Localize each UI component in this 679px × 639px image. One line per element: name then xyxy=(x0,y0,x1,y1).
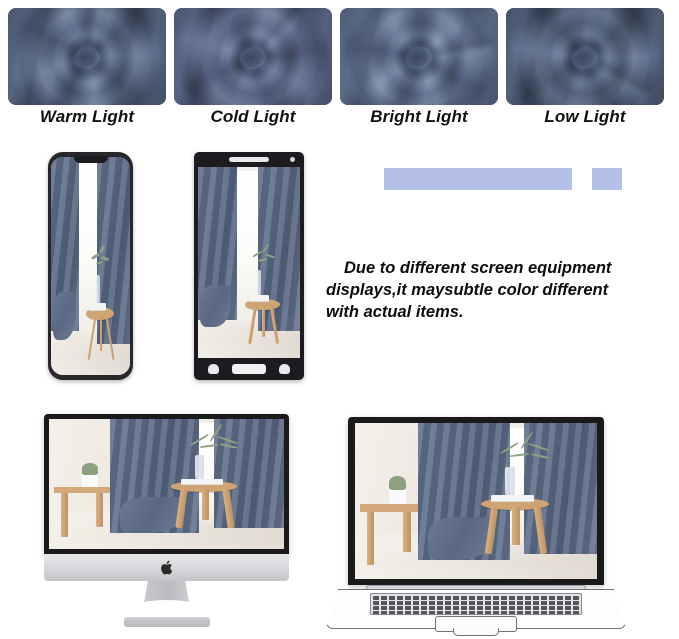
smartphone-notch-mockup xyxy=(48,152,133,380)
phone-body xyxy=(48,152,133,380)
fabric-swatch-label-row: Warm Light Cold Light Bright Light Low L… xyxy=(0,107,679,135)
disclaimer-line-2: displays,it maysubtle color different xyxy=(326,280,638,302)
label-low-light: Low Light xyxy=(506,107,664,127)
scene-plant xyxy=(249,243,280,274)
keyboard-row xyxy=(373,606,579,610)
keyboard-row xyxy=(373,596,579,600)
color-bar-main xyxy=(384,168,572,190)
label-warm-light: Warm Light xyxy=(8,107,166,127)
monitor-stand-foot xyxy=(124,617,210,627)
phone-softkey-right-icon xyxy=(279,364,290,374)
color-bar-small xyxy=(592,168,622,190)
laptop-lid xyxy=(348,417,604,585)
curtain-room-scene-wide xyxy=(355,423,597,579)
fabric-vignette xyxy=(174,8,332,105)
laptop-keyboard[interactable] xyxy=(370,593,582,615)
monitor-screen xyxy=(49,419,284,549)
phone-earpiece-icon xyxy=(229,157,269,162)
scene-plant xyxy=(185,429,246,458)
scene-pot-plant xyxy=(82,463,98,475)
phone-body xyxy=(194,152,304,380)
scene-bench-leg xyxy=(61,493,68,537)
scene-plant xyxy=(495,435,558,469)
scene-bench-leg xyxy=(403,512,410,553)
scene-stool-leg xyxy=(262,306,265,337)
scene-bench-top xyxy=(360,504,418,512)
phone-screen xyxy=(51,157,130,375)
fabric-swatch-low-light xyxy=(506,8,664,105)
label-bright-light: Bright Light xyxy=(340,107,498,127)
scene-book xyxy=(491,495,535,501)
phone-camera-icon xyxy=(290,157,295,162)
laptop-front-notch xyxy=(453,628,499,636)
scene-pot xyxy=(82,474,98,487)
scene-book xyxy=(249,295,269,301)
scene-stool-leg xyxy=(512,507,519,544)
curtain-room-scene xyxy=(51,157,130,375)
keyboard-row xyxy=(373,601,579,605)
scene-bench-leg xyxy=(367,512,374,565)
scene-stool-leg xyxy=(100,316,102,351)
imac-desktop-mockup xyxy=(44,414,289,639)
monitor-bezel xyxy=(44,414,289,554)
fabric-vignette xyxy=(8,8,166,105)
scene-book xyxy=(181,479,223,484)
fabric-vignette xyxy=(340,8,498,105)
scene-bench-leg xyxy=(96,493,103,527)
fabric-swatch-warm-light xyxy=(8,8,166,105)
scene-book xyxy=(89,303,106,310)
color-disclaimer-text: Due to different screen equipment displa… xyxy=(326,258,638,323)
disclaimer-line-3: with actual items. xyxy=(326,302,638,324)
phone-home-button xyxy=(232,364,266,374)
label-cold-light: Cold Light xyxy=(174,107,332,127)
apple-logo-icon xyxy=(160,560,173,575)
laptop-mockup xyxy=(326,417,626,639)
fabric-vignette xyxy=(506,8,664,105)
curtain-room-scene xyxy=(198,167,300,358)
smartphone-bezel-mockup xyxy=(194,152,304,380)
keyboard-row xyxy=(373,611,579,615)
scene-stool-leg xyxy=(202,489,209,520)
phone-softkey-left-icon xyxy=(208,364,219,374)
curtain-room-scene-wide xyxy=(49,419,284,549)
fabric-swatch-row xyxy=(0,8,679,105)
phone-notch xyxy=(74,156,108,163)
scene-plant xyxy=(89,244,113,279)
scene-pot xyxy=(389,489,406,505)
fabric-swatch-bright-light xyxy=(340,8,498,105)
laptop-screen xyxy=(355,423,597,579)
fabric-swatch-cold-light xyxy=(174,8,332,105)
monitor-chin xyxy=(44,554,289,581)
phone-screen xyxy=(198,167,300,358)
product-infographic-page: Warm Light Cold Light Bright Light Low L… xyxy=(0,0,679,639)
scene-pot-plant xyxy=(389,476,406,490)
disclaimer-line-1: Due to different screen equipment xyxy=(326,258,638,280)
